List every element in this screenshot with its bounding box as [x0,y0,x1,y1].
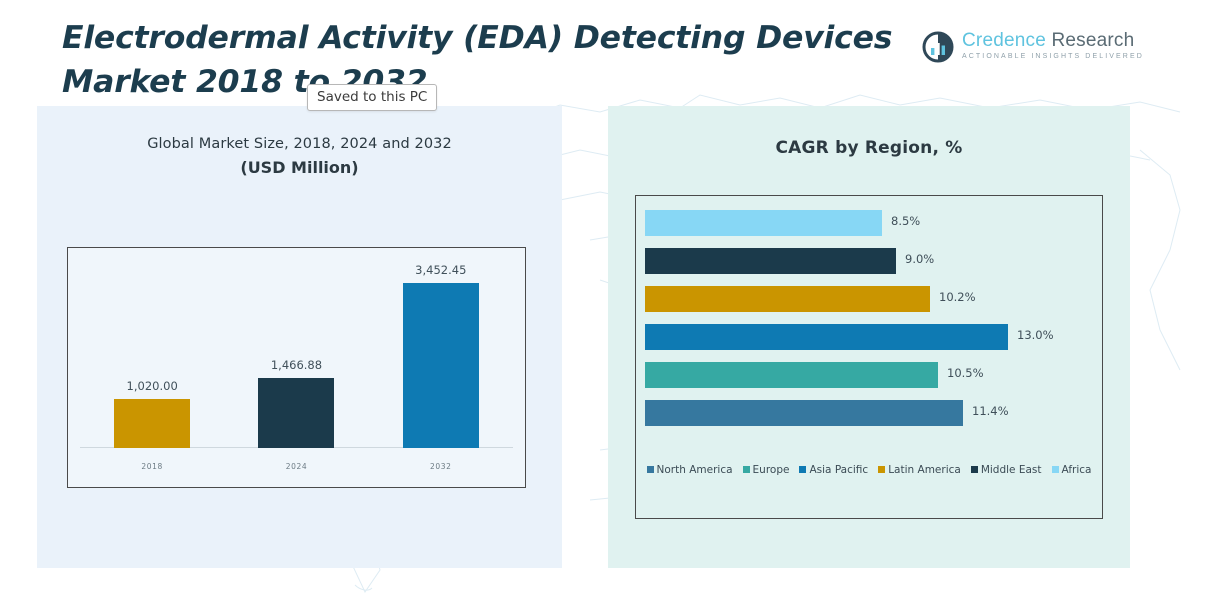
logo-name-primary: Credence [962,30,1046,51]
column-group-2024: 1,466.88 2024 [224,266,368,448]
bar-row: 13.0% [645,324,1093,350]
bar-value-label: 9.0% [905,252,934,266]
legend-item[interactable]: Africa [1052,464,1092,476]
legend-swatch-icon [1052,466,1059,473]
legend-swatch-icon [971,466,978,473]
bar-fill-europe[interactable] [645,362,938,388]
legend-label: Europe [753,464,790,476]
bar-row: 11.4% [645,400,1093,426]
legend-label: Latin America [888,464,961,476]
column-label-2018: 2018 [80,462,224,471]
legend-label: Asia Pacific [809,464,868,476]
legend-swatch-icon [799,466,806,473]
logo-name: Credence Research [962,30,1144,52]
column-bar-2032[interactable] [403,283,479,448]
legend-item[interactable]: Europe [743,464,790,476]
logo-name-secondary: Research [1046,30,1134,51]
column-value-2024: 1,466.88 [271,358,322,372]
logo-text: Credence Research Actionable Insights De… [962,30,1144,60]
logo-tagline: Actionable Insights Delivered [962,53,1144,60]
column-group-2032: 3,452.45 2032 [369,266,513,448]
legend-item[interactable]: Asia Pacific [799,464,868,476]
column-value-2018: 1,020.00 [127,379,178,393]
left-chart-plot-area: 1,020.00 2018 1,466.88 2024 3,452.45 [67,247,526,488]
bar-value-label: 8.5% [891,214,920,228]
right-chart-plot-area: 8.5%9.0%10.2%13.0%10.5%11.4% North Ameri… [635,195,1103,519]
right-chart-title: CAGR by Region, % [608,138,1130,158]
global-market-size-panel: Global Market Size, 2018, 2024 and 2032 … [37,106,562,568]
legend-swatch-icon [878,466,885,473]
bar-value-label: 10.5% [947,366,984,380]
bar-fill-north-america[interactable] [645,400,963,426]
left-chart-subtitle: (USD Million) [37,158,562,177]
left-chart-title: Global Market Size, 2018, 2024 and 2032 [37,136,562,152]
bar-row: 10.5% [645,362,1093,388]
column-label-2024: 2024 [224,462,368,471]
header: Electrodermal Activity (EDA) Detecting D… [0,0,1212,106]
column-group-2018: 1,020.00 2018 [80,266,224,448]
column-label-2032: 2032 [369,462,513,471]
saved-to-this-pc-tooltip: Saved to this PC [307,84,437,111]
column-bar-2024[interactable] [258,378,334,448]
bar-fill-latin-america[interactable] [645,286,930,312]
column-bar-2018[interactable] [114,399,190,448]
legend-swatch-icon [647,466,654,473]
bar-row: 9.0% [645,248,1093,274]
bar-row: 10.2% [645,286,1093,312]
region-legend: North AmericaEuropeAsia PacificLatin Ame… [636,464,1102,476]
column-value-2032: 3,452.45 [415,263,466,277]
column-chart: 1,020.00 2018 1,466.88 2024 3,452.45 [80,258,513,477]
cagr-by-region-panel: CAGR by Region, % 8.5%9.0%10.2%13.0%10.5… [608,106,1130,568]
horizontal-bar-chart: 8.5%9.0%10.2%13.0%10.5%11.4% [645,210,1093,445]
bar-fill-asia-pacific[interactable] [645,324,1008,350]
bar-row: 8.5% [645,210,1093,236]
bar-value-label: 11.4% [972,404,1009,418]
credence-research-logo[interactable]: Credence Research Actionable Insights De… [922,28,1112,70]
legend-item[interactable]: Latin America [878,464,961,476]
bar-value-label: 10.2% [939,290,976,304]
infographic-root: Electrodermal Activity (EDA) Detecting D… [0,0,1212,601]
bar-chart-circle-icon [922,31,954,63]
legend-label: Middle East [981,464,1042,476]
legend-swatch-icon [743,466,750,473]
legend-label: North America [657,464,733,476]
bar-fill-middle-east[interactable] [645,248,896,274]
legend-item[interactable]: Middle East [971,464,1042,476]
legend-item[interactable]: North America [647,464,733,476]
bar-fill-africa[interactable] [645,210,882,236]
legend-label: Africa [1062,464,1092,476]
page-title: Electrodermal Activity (EDA) Detecting D… [62,16,912,104]
bar-value-label: 13.0% [1017,328,1054,342]
